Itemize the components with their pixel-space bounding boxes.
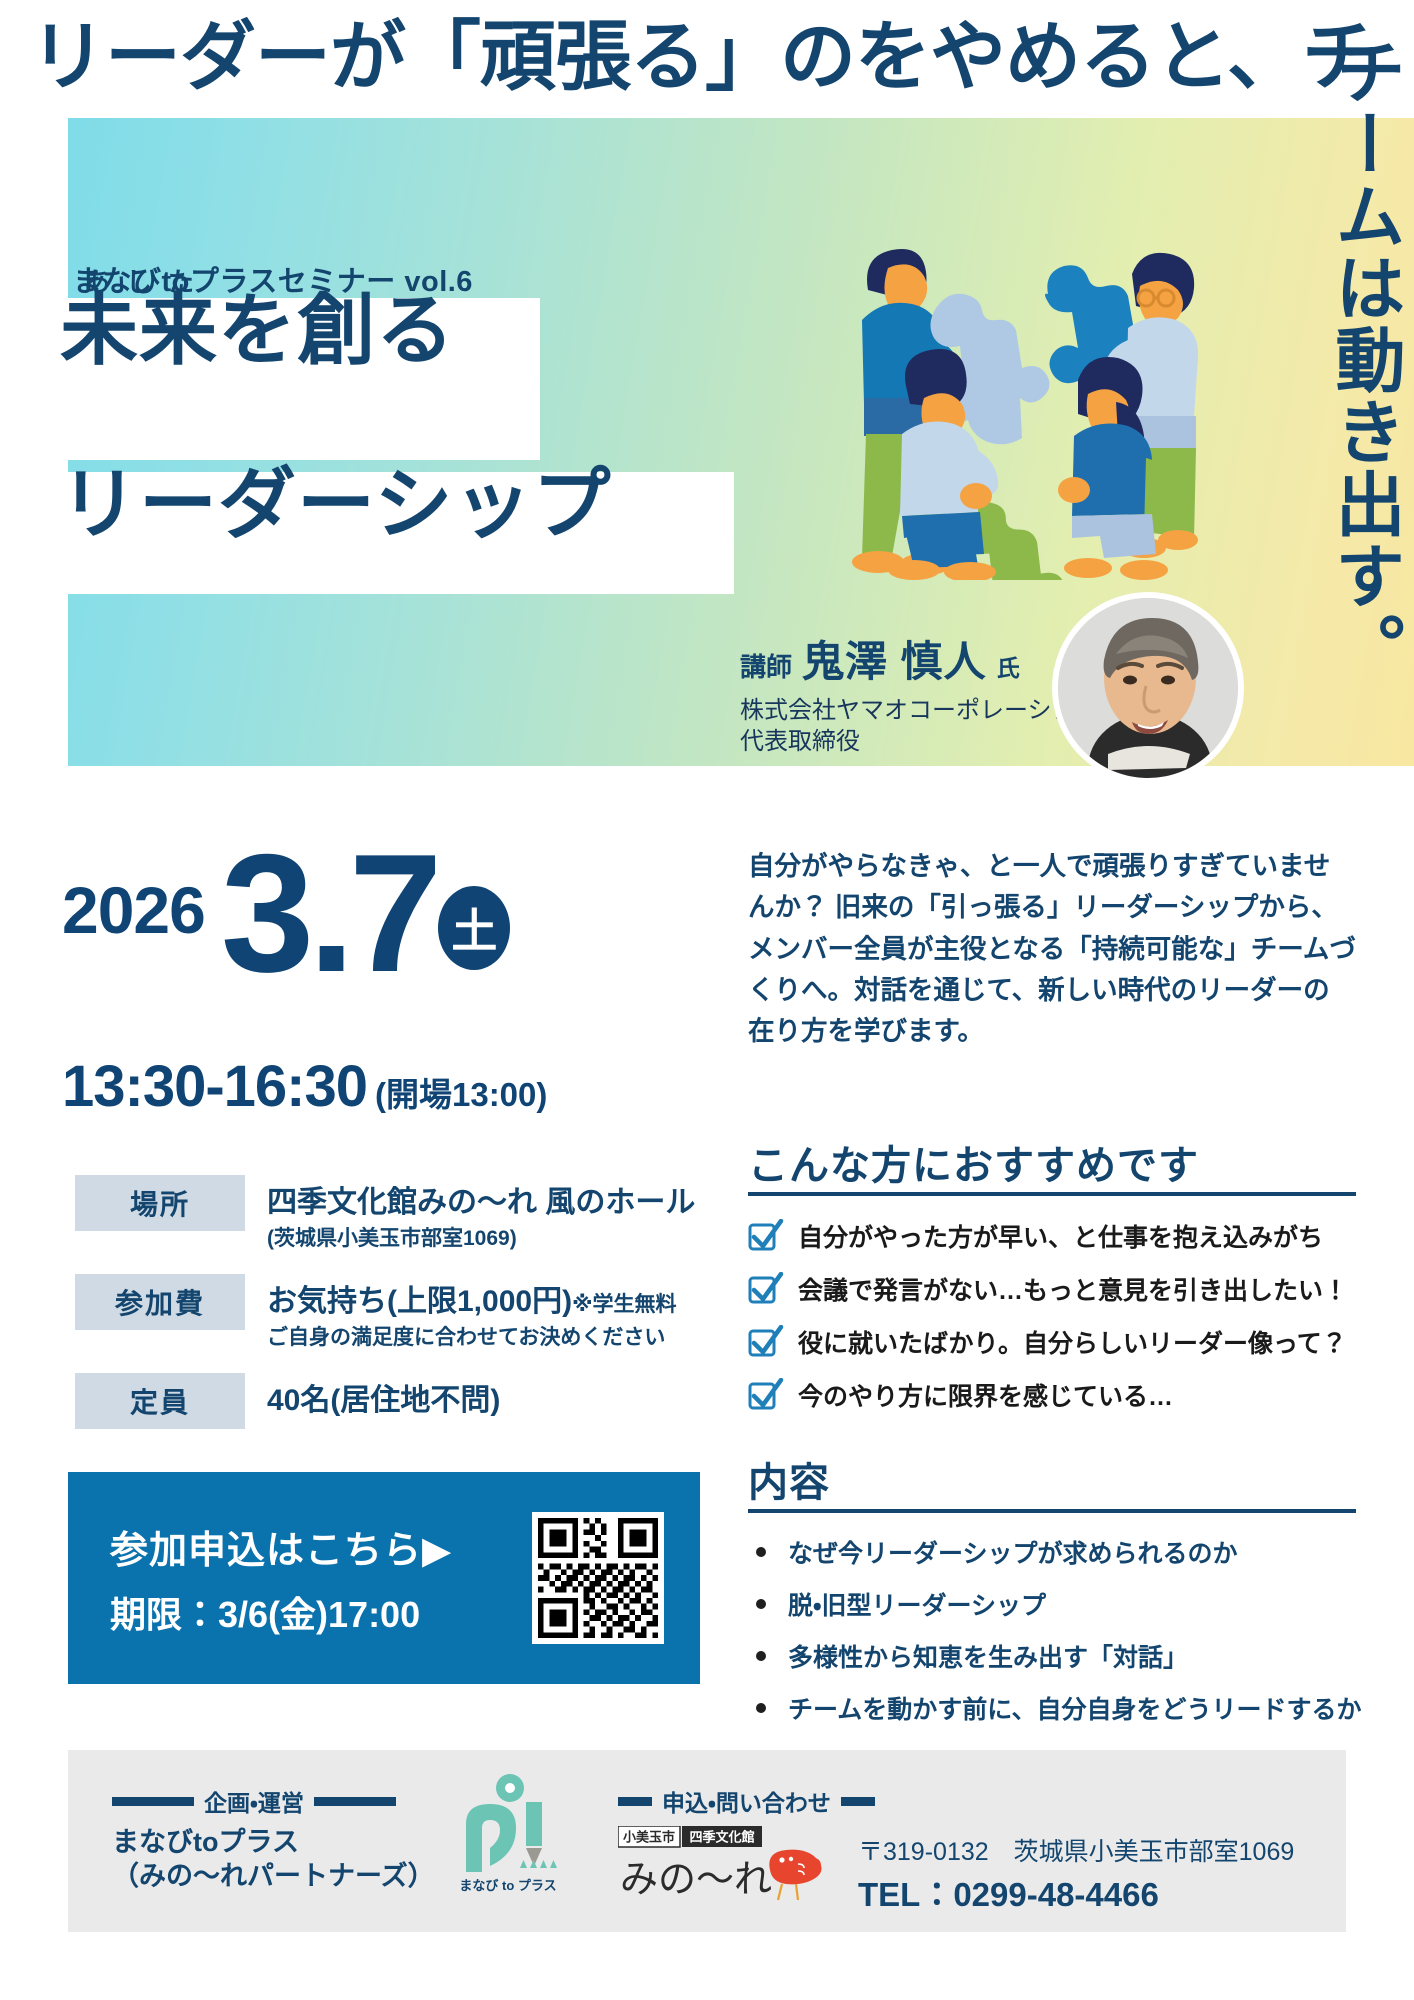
banner-rule-left: [618, 1797, 652, 1806]
footer-bar: 企画・運営 まなびtoプラス （みの〜れパートナーズ）: [68, 1750, 1346, 1932]
list-item: チームを動かす前に、自分自身をどうリードするか: [756, 1690, 1376, 1726]
event-day-of-week-badge: 土: [438, 886, 510, 970]
contact-block: 申込・問い合わせ: [618, 1784, 1318, 1818]
table-row: 定員 40名(居住地不問): [75, 1373, 700, 1429]
title-line-2: リーダーシップ: [60, 462, 611, 548]
contents-divider: [748, 1509, 1356, 1513]
speaker-honorific: 氏: [997, 649, 1020, 683]
fee-note: ご自身の満足度に合わせてお決めください: [267, 1321, 676, 1351]
speaker-organization: 株式会社ヤマオコーポレーション 代表取締役: [740, 695, 1100, 757]
lead-paragraph: 自分がやらなきゃ、と一人で頑張りすぎていませんか？ 旧来の「引っ張る」リーダーシ…: [748, 846, 1356, 1053]
list-item: 今のやり方に限界を感じている…: [748, 1377, 1368, 1413]
application-texts: 参加申込はこちら▶ 期限：3/6(金)17:00: [68, 1519, 532, 1638]
banner-rule-left: [112, 1797, 194, 1806]
application-deadline: 期限：3/6(金)17:00: [110, 1586, 532, 1638]
manabi-logo-caption: まなび to プラス: [459, 1878, 556, 1893]
event-date: 2026 3.7 土: [62, 840, 510, 988]
poster-root: リーダーが「頑張る」のをやめると、チ チームは動き出す。 まなびtoプラスセミナ…: [0, 0, 1414, 2000]
list-item-label: 自分がやった方が早い、と仕事を抱え込みがち: [798, 1218, 1323, 1254]
list-item: 多様性から知恵を生み出す「対話」: [756, 1638, 1376, 1674]
contents-list: なぜ今リーダーシップが求められるのか 脱・旧型リーダーシップ 多様性から知恵を生…: [756, 1534, 1376, 1742]
list-item-label: 今のやり方に限界を感じている…: [798, 1377, 1173, 1413]
speaker-org-line1: 株式会社ヤマオコーポレーション: [740, 695, 1100, 726]
contents-heading: 内容: [748, 1450, 830, 1508]
list-item-label: チームを動かす前に、自分自身をどうリードするか: [788, 1690, 1362, 1726]
venue-address: (茨城県小美玉市部室1069): [267, 1222, 695, 1252]
bullet-icon: [756, 1703, 766, 1713]
manabi-to-plus-logo: まなび to プラス: [448, 1772, 568, 1898]
event-time-range: 13:30-16:30: [62, 1053, 367, 1120]
list-item-label: 多様性から知恵を生み出す「対話」: [788, 1638, 1188, 1674]
title-line-1: 未来を創る: [60, 288, 455, 374]
bullet-icon: [756, 1651, 766, 1661]
speaker-name-row: 講師 鬼澤 慎人 氏: [740, 628, 1100, 689]
application-cta-box[interactable]: 参加申込はこちら▶ 期限：3/6(金)17:00: [68, 1472, 700, 1684]
venue-tag-name: 四季文化館: [689, 1830, 754, 1845]
speaker-info: 講師 鬼澤 慎人 氏 株式会社ヤマオコーポレーション 代表取締役: [740, 628, 1100, 757]
list-item: 会議で発言がない…もっと意見を引き出したい！: [748, 1271, 1368, 1307]
contact-telephone: TEL：0299-48-4466: [858, 1868, 1159, 1916]
speaker-org-line2: 代表取締役: [740, 726, 1100, 757]
capacity-value: 40名(居住地不問): [267, 1375, 500, 1419]
check-icon: [748, 1219, 784, 1253]
list-item: 自分がやった方が早い、と仕事を抱え込みがち: [748, 1218, 1368, 1254]
recommend-heading: こんな方におすすめです: [748, 1133, 1199, 1191]
fee-amount-row: お気持ち(上限1,000円)※学生無料: [267, 1276, 676, 1320]
contact-banner-label: 申込・問い合わせ: [662, 1784, 831, 1818]
event-details-table: 場所 四季文化館みの〜れ 風のホール (茨城県小美玉市部室1069) 参加費 お…: [75, 1175, 700, 1451]
qr-code[interactable]: [532, 1512, 664, 1644]
banner-rule-right: [314, 1797, 396, 1806]
banner-rule-right: [841, 1797, 875, 1806]
event-doors-open: (開場13:00): [375, 1068, 547, 1116]
list-item-label: 役に就いたばかり。自分らしいリーダー像って？: [798, 1324, 1347, 1360]
fee-amount: お気持ち(上限1,000円): [267, 1285, 572, 1318]
table-row: 参加費 お気持ち(上限1,000円)※学生無料 ご自身の満足度に合わせてお決めく…: [75, 1274, 700, 1351]
info-value-venue: 四季文化館みの〜れ 風のホール (茨城県小美玉市部室1069): [245, 1175, 695, 1252]
application-link-label[interactable]: 参加申込はこちら▶: [110, 1519, 532, 1574]
speaker-name: 鬼澤 慎人: [802, 628, 987, 689]
list-item-label: 会議で発言がない…もっと意見を引き出したい！: [798, 1271, 1348, 1307]
teamwork-puzzle-illustration: [810, 190, 1230, 580]
contact-address: 〒319-0132 茨城県小美玉市部室1069: [858, 1832, 1294, 1868]
headline-main: リーダーが「頑張る」のをやめると、チ: [30, 18, 1320, 98]
speaker-avatar: [1052, 592, 1244, 784]
venue-tag-city: 小美玉市: [623, 1830, 675, 1845]
info-key-fee: 参加費: [75, 1274, 245, 1330]
list-item: 脱・旧型リーダーシップ: [756, 1586, 1376, 1622]
info-key-venue: 場所: [75, 1175, 245, 1231]
headline-vertical: チームは動き出す。: [1316, 36, 1400, 684]
list-item-label: 脱・旧型リーダーシップ: [788, 1586, 1046, 1622]
minore-bird-icon: [769, 1850, 821, 1900]
list-item: 役に就いたばかり。自分らしいリーダー像って？: [748, 1324, 1368, 1360]
list-item: なぜ今リーダーシップが求められるのか: [756, 1534, 1376, 1570]
info-value-capacity: 40名(居住地不問): [245, 1373, 500, 1419]
info-value-fee: お気持ち(上限1,000円)※学生無料 ご自身の満足度に合わせてお決めください: [245, 1274, 676, 1351]
check-icon: [748, 1378, 784, 1412]
speaker-prefix-label: 講師: [740, 647, 792, 684]
venue-name: 四季文化館みの〜れ 風のホール: [267, 1177, 695, 1221]
organizer-banner-label: 企画・運営: [204, 1784, 304, 1818]
minore-venue-logo: 小美玉市 四季文化館 みの〜れ: [618, 1826, 858, 1904]
contact-banner: 申込・問い合わせ: [618, 1784, 1318, 1818]
recommend-divider: [748, 1192, 1356, 1196]
check-icon: [748, 1272, 784, 1306]
recommend-list: 自分がやった方が早い、と仕事を抱え込みがち 会議で発言がない…もっと意見を引き出…: [748, 1218, 1368, 1430]
fee-student-note: ※学生無料: [572, 1293, 676, 1316]
event-time: 13:30-16:30 (開場13:00): [62, 1053, 547, 1120]
list-item-label: なぜ今リーダーシップが求められるのか: [788, 1534, 1238, 1570]
bullet-icon: [756, 1547, 766, 1557]
event-year: 2026: [62, 872, 205, 948]
event-month-day: 3.7: [221, 840, 437, 988]
info-key-capacity: 定員: [75, 1373, 245, 1429]
venue-logo-text: みの〜れ: [620, 1859, 772, 1901]
table-row: 場所 四季文化館みの〜れ 風のホール (茨城県小美玉市部室1069): [75, 1175, 700, 1252]
check-icon: [748, 1325, 784, 1359]
bullet-icon: [756, 1599, 766, 1609]
